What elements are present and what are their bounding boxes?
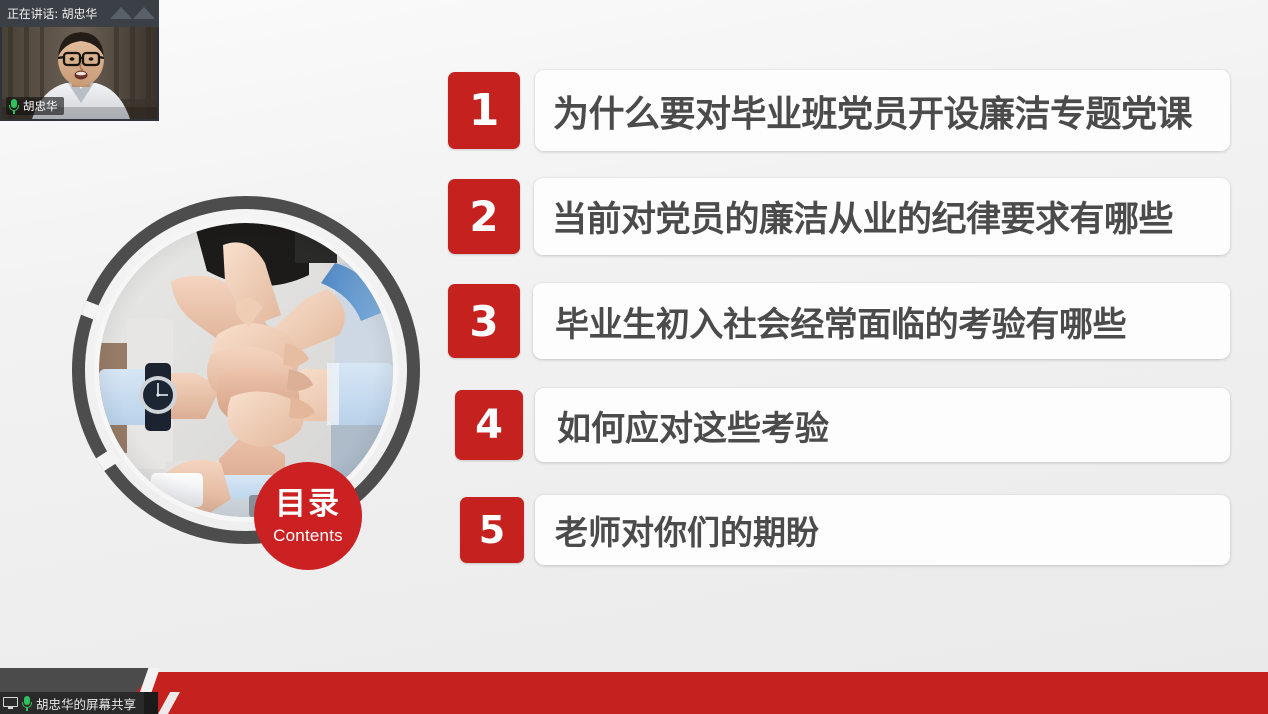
contents-title-en: Contents (273, 527, 343, 544)
agenda-item-1: 1 为什么要对毕业班党员开设廉洁专题党课 (448, 70, 1230, 151)
agenda-number-3: 3 (448, 284, 520, 358)
agenda-number-2: 2 (448, 179, 520, 254)
screen-share-status[interactable]: 胡忠华的屏幕共享 (0, 692, 144, 714)
agenda-text-1: 为什么要对毕业班党员开设廉洁专题党课 (535, 70, 1230, 151)
agenda-item-4: 4 如何应对这些考验 (455, 388, 1230, 462)
microphone-icon (22, 696, 32, 711)
collapse-thumbnail-button[interactable] (110, 7, 155, 19)
screen-share-icon (3, 697, 18, 709)
bottom-right-diagonal (158, 692, 180, 714)
bottom-gray-wedge (0, 668, 158, 692)
app-bottom-strip: 胡忠华的屏幕共享 (0, 692, 1268, 714)
chevron-collapse-icon (110, 7, 132, 19)
teamwork-hands-photo (99, 223, 393, 517)
agenda-text-3: 毕业生初入社会经常面临的考验有哪些 (533, 283, 1230, 359)
slide-bottom-decoration (0, 668, 1268, 692)
agenda-number-5: 5 (460, 497, 524, 563)
agenda-item-2: 2 当前对党员的廉洁从业的纪律要求有哪些 (448, 178, 1230, 255)
participant-name-badge: 胡忠华 (6, 97, 64, 115)
agenda-text-5: 老师对你们的期盼 (535, 495, 1230, 565)
speaking-now-label: 正在讲话: 胡忠华 (0, 5, 97, 22)
chevron-collapse-icon (133, 7, 155, 19)
contents-badge: 目录 Contents (254, 462, 362, 570)
shared-screen-slide: 目录 Contents 1 为什么要对毕业班党员开设廉洁专题党课 2 当前对党员… (0, 0, 1268, 692)
agenda-item-3: 3 毕业生初入社会经常面临的考验有哪些 (448, 283, 1230, 359)
screen-share-status-label: 胡忠华的屏幕共享 (36, 694, 136, 713)
participant-name-label: 胡忠华 (23, 98, 58, 114)
active-speaker-thumbnail[interactable]: 正在讲话: 胡忠华 (0, 0, 159, 121)
agenda-number-4: 4 (455, 390, 523, 460)
agenda-item-5: 5 老师对你们的期盼 (460, 495, 1230, 565)
agenda-number-1: 1 (448, 72, 520, 149)
contents-circle-graphic: 目录 Contents (72, 196, 420, 544)
contents-title-cn: 目录 (275, 489, 341, 520)
webcam-header: 正在讲话: 胡忠华 (0, 0, 159, 27)
agenda-list: 1 为什么要对毕业班党员开设廉洁专题党课 2 当前对党员的廉洁从业的纪律要求有哪… (440, 70, 1230, 565)
agenda-text-2: 当前对党员的廉洁从业的纪律要求有哪些 (534, 178, 1230, 255)
bottom-red-band (0, 672, 1268, 692)
agenda-text-4: 如何应对这些考验 (535, 388, 1230, 462)
bottom-red-right (158, 692, 1268, 714)
webcam-video-feed: 胡忠华 (2, 27, 157, 119)
microphone-icon (9, 99, 19, 114)
